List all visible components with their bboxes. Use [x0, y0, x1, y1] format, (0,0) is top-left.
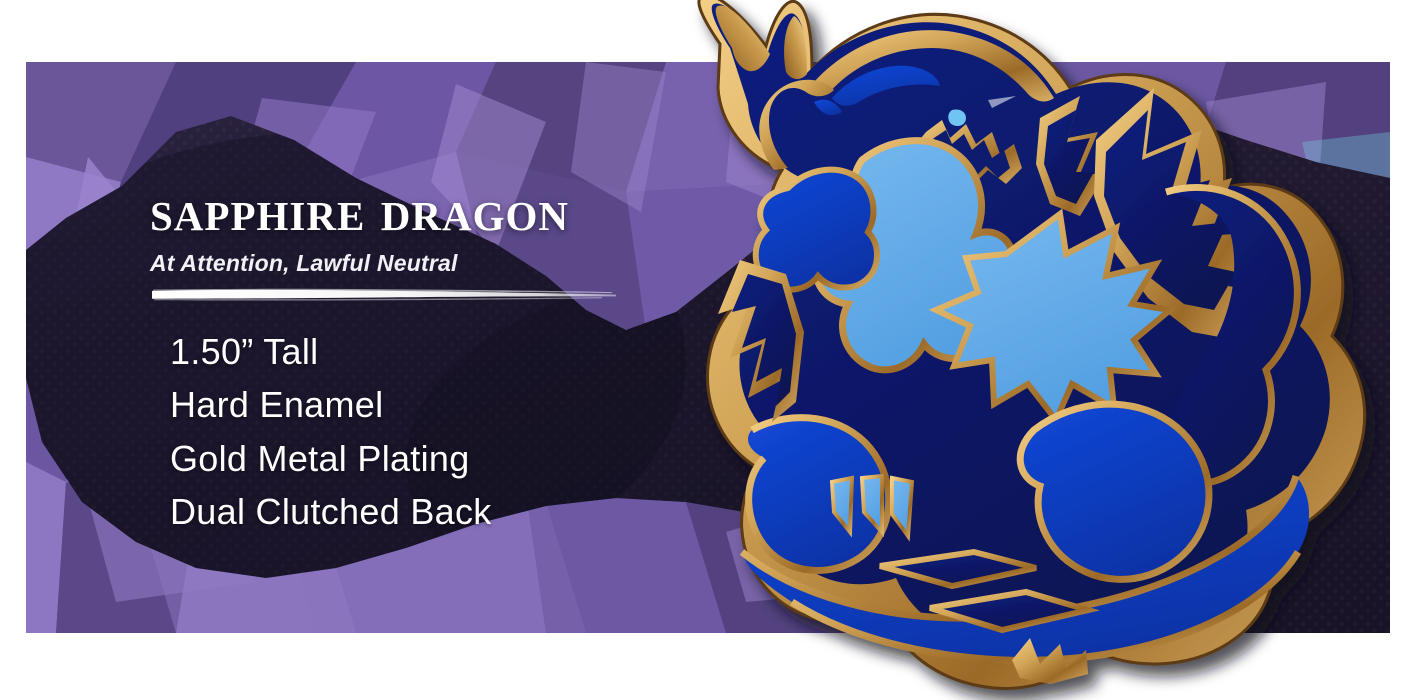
list-item: Dual Clutched Back [170, 485, 670, 538]
page-title: Sapphire Dragon [150, 182, 670, 240]
brush-stroke-divider-icon [150, 285, 618, 307]
list-item: Gold Metal Plating [170, 432, 670, 485]
list-item: Hard Enamel [170, 378, 670, 431]
product-feature-list: 1.50” Tall Hard Enamel Gold Metal Platin… [150, 325, 670, 538]
banner-stage: Sapphire Dragon At Attention, Lawful Neu… [0, 0, 1412, 700]
product-subtitle: At Attention, Lawful Neutral [150, 250, 670, 277]
dragon-tail-spikes [1012, 638, 1088, 684]
product-text-block: Sapphire Dragon At Attention, Lawful Neu… [150, 182, 670, 538]
list-item: 1.50” Tall [170, 325, 670, 378]
product-banner-card: Sapphire Dragon At Attention, Lawful Neu… [26, 62, 1390, 633]
